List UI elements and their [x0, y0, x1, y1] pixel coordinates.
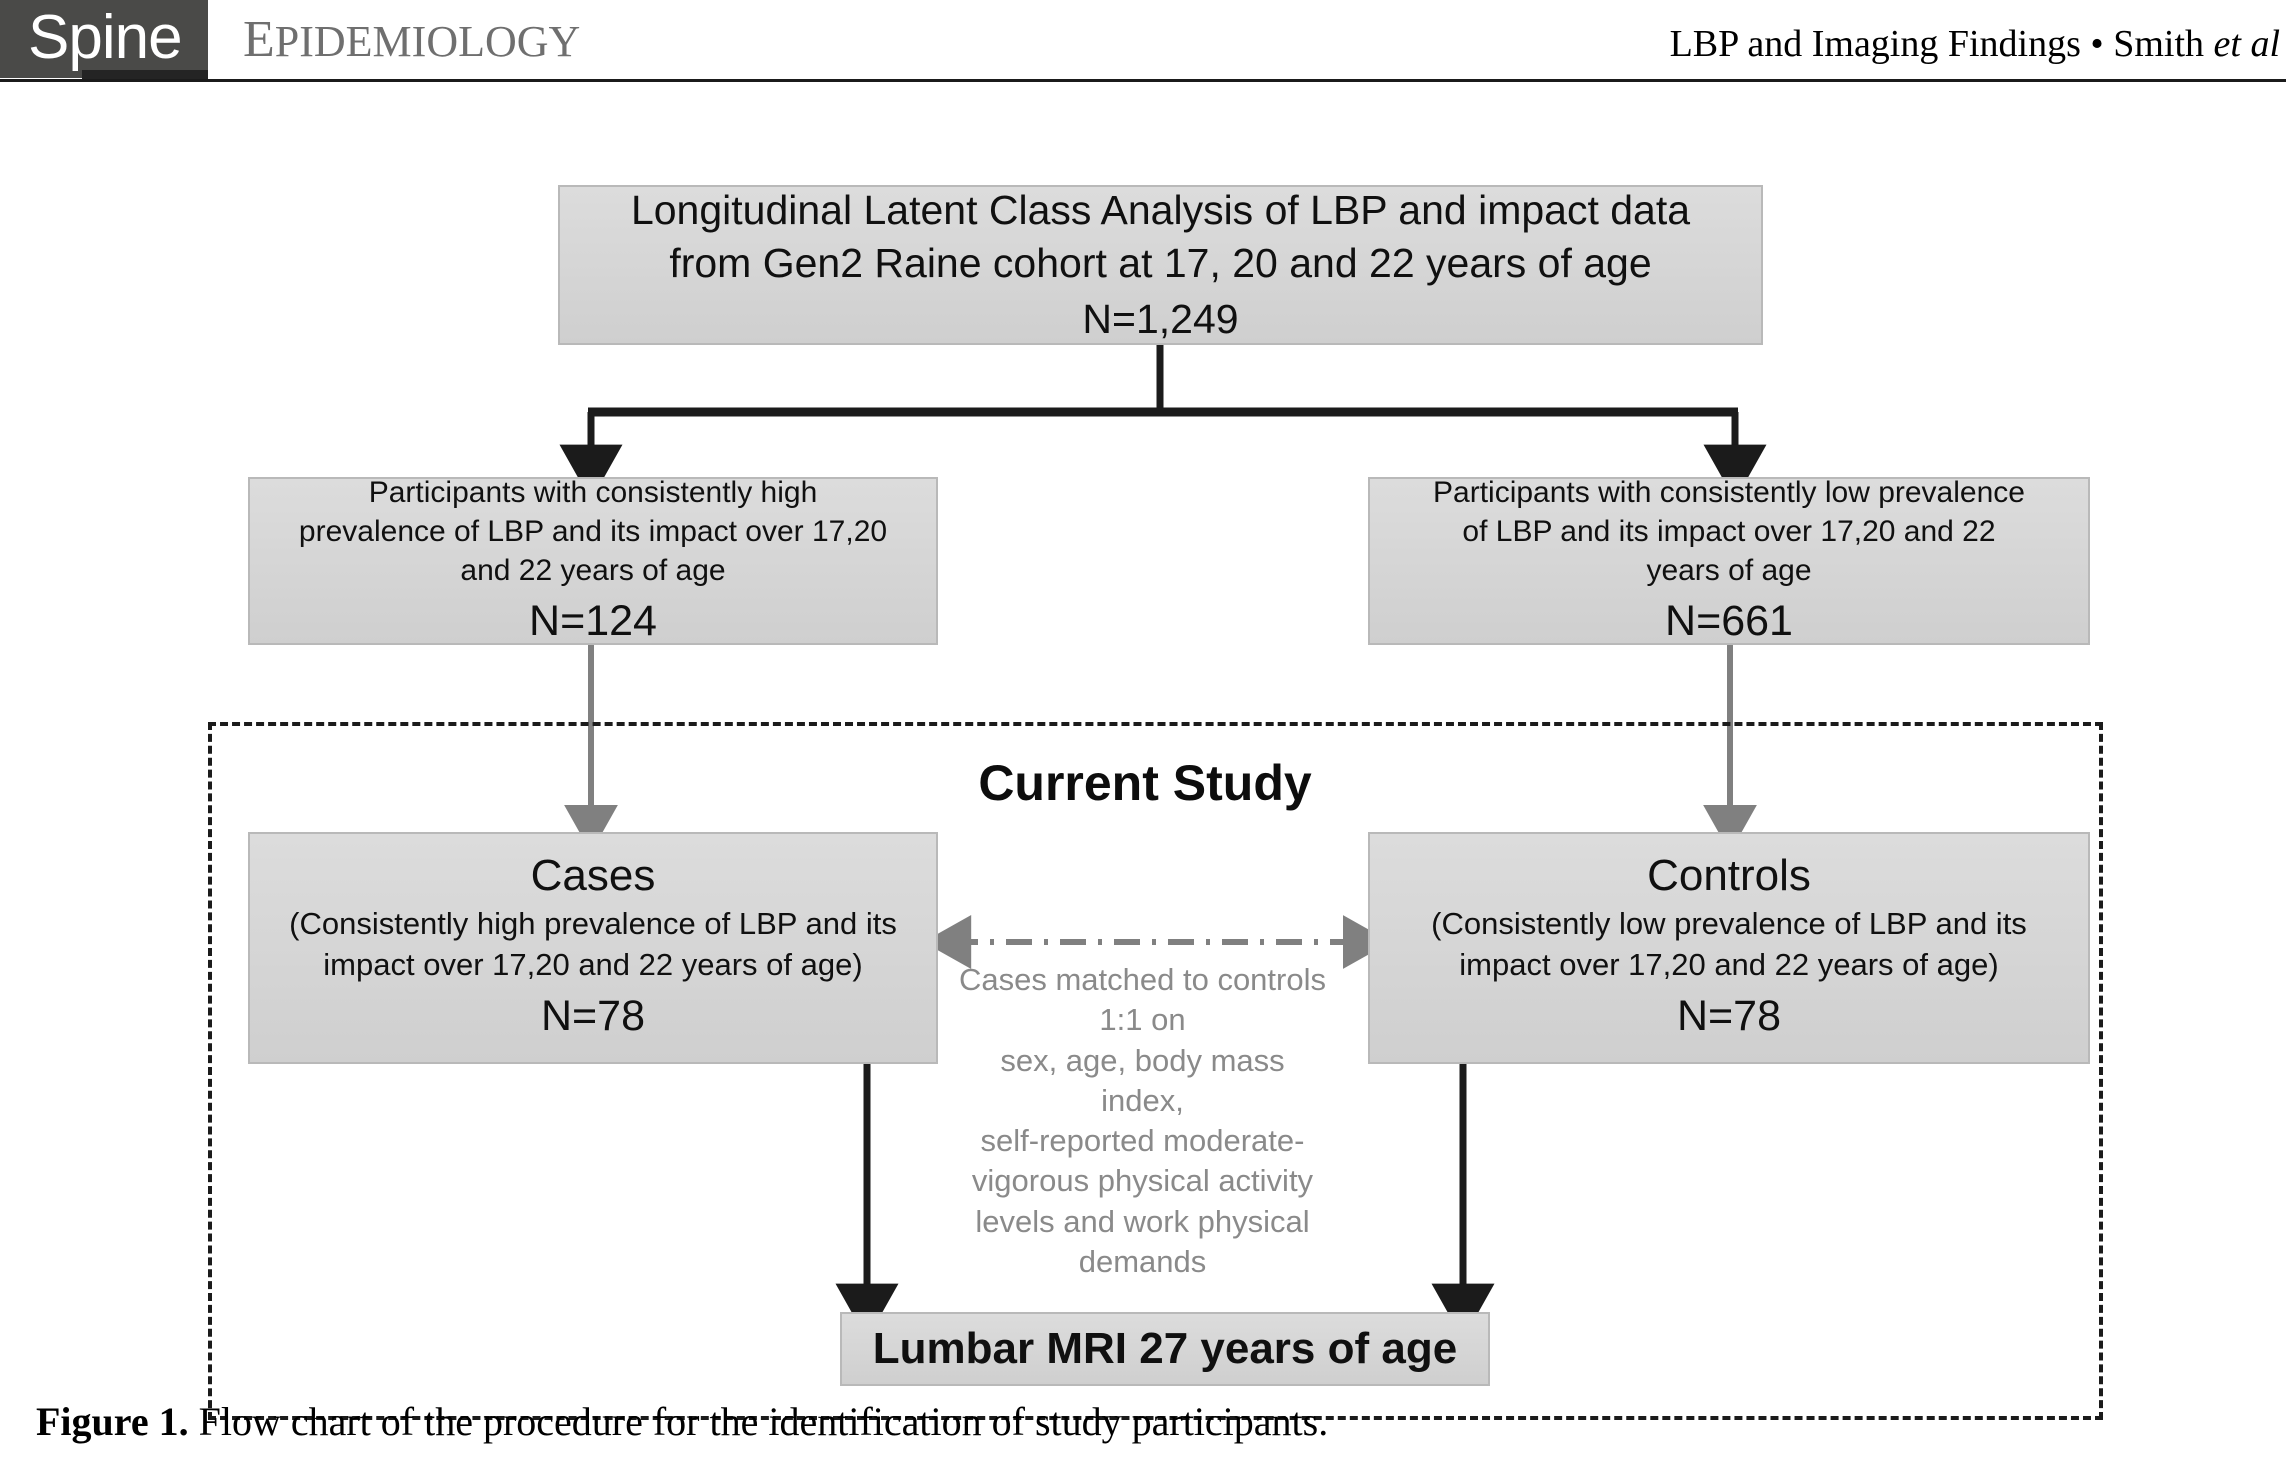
node-cases: Cases (Consistently high prevalence of L…: [248, 832, 938, 1064]
article-reference-main: LBP and Imaging Findings • Smith: [1670, 23, 2214, 65]
node-cases-line1: (Consistently high prevalence of LBP and…: [289, 904, 897, 944]
flow-chart: Current Study Longitudinal Latent Class …: [0, 82, 2286, 1382]
connector-source-split: [588, 345, 1738, 467]
figure-caption-lead: Figure 1.: [36, 1399, 189, 1444]
node-source-cohort: Longitudinal Latent Class Analysis of LB…: [558, 185, 1763, 345]
node-controls-count: N=78: [1677, 989, 1781, 1045]
matching-note-line7: demands: [955, 1242, 1330, 1282]
node-source-count: N=1,249: [1082, 293, 1238, 346]
article-reference-italic: et al: [2214, 23, 2280, 65]
matching-note-line1: Cases matched to controls: [955, 960, 1330, 1000]
matching-note-line2: 1:1 on: [955, 1000, 1330, 1040]
matching-note-line5: vigorous physical activity: [955, 1161, 1330, 1201]
node-low-line1: Participants with consistently low preva…: [1433, 473, 2025, 512]
node-source-line1: Longitudinal Latent Class Analysis of LB…: [631, 184, 1690, 237]
node-cases-count: N=78: [541, 989, 645, 1045]
node-high-count: N=124: [529, 594, 657, 650]
figure-caption-text: Flow chart of the procedure for the iden…: [189, 1399, 1329, 1444]
current-study-title: Current Study: [945, 754, 1345, 812]
section-name: EPIDEMIOLOGY: [243, 12, 580, 70]
matching-note-line6: levels and work physical: [955, 1202, 1330, 1242]
matching-note-line3: sex, age, body mass index,: [955, 1041, 1330, 1122]
node-low-line3: years of age: [1646, 551, 1811, 590]
figure-caption: Figure 1. Flow chart of the procedure fo…: [36, 1396, 2236, 1448]
node-lumbar-mri-label: Lumbar MRI 27 years of age: [873, 1320, 1457, 1377]
journal-logo-underbar: [82, 70, 208, 79]
node-cases-headline: Cases: [531, 851, 656, 900]
node-cases-line2: impact over 17,20 and 22 years of age): [323, 945, 862, 985]
article-reference: LBP and Imaging Findings • Smith et al: [1670, 20, 2280, 68]
node-controls-headline: Controls: [1647, 851, 1811, 900]
node-high-prevalence-group: Participants with consistently high prev…: [248, 477, 938, 645]
running-head: Spine EPIDEMIOLOGY LBP and Imaging Findi…: [0, 0, 2286, 82]
node-controls-line1: (Consistently low prevalence of LBP and …: [1431, 904, 2027, 944]
node-high-line1: Participants with consistently high: [369, 473, 818, 512]
node-lumbar-mri: Lumbar MRI 27 years of age: [840, 1312, 1490, 1386]
node-low-line2: of LBP and its impact over 17,20 and 22: [1462, 512, 1995, 551]
node-high-line3: and 22 years of age: [460, 551, 725, 590]
node-controls: Controls (Consistently low prevalence of…: [1368, 832, 2090, 1064]
matching-note-line4: self-reported moderate-: [955, 1121, 1330, 1161]
journal-logo-text: Spine: [28, 2, 182, 74]
node-controls-line2: impact over 17,20 and 22 years of age): [1459, 945, 1998, 985]
node-source-line2: from Gen2 Raine cohort at 17, 20 and 22 …: [669, 237, 1651, 290]
node-high-line2: prevalence of LBP and its impact over 17…: [299, 512, 887, 551]
section-name-rest: PIDEMIOLOGY: [275, 17, 581, 66]
section-name-initial: E: [243, 11, 275, 68]
node-low-count: N=661: [1665, 594, 1793, 650]
matching-note: Cases matched to controls 1:1 on sex, ag…: [955, 960, 1330, 1282]
node-low-prevalence-group: Participants with consistently low preva…: [1368, 477, 2090, 645]
